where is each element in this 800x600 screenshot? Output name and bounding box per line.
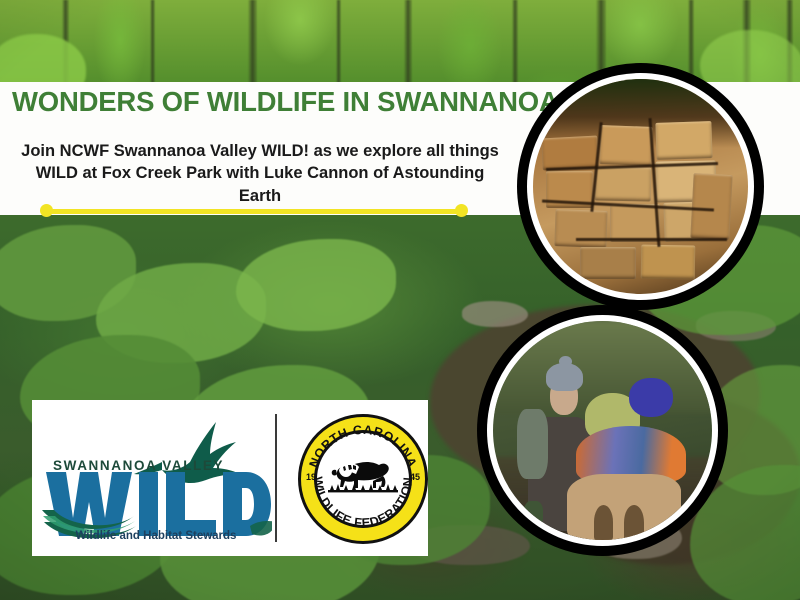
hikers-on-trail bbox=[493, 321, 712, 540]
seal-year-left: 19 bbox=[306, 472, 316, 482]
logo-ncwf-seal: NORTH CAROLINA WILDLIFE FEDERATION 19 45 bbox=[298, 414, 428, 544]
bison-icon bbox=[328, 454, 398, 502]
logo-divider bbox=[275, 414, 277, 542]
event-subtitle: Join NCWF Swannanoa Valley WILD! as we e… bbox=[14, 140, 506, 207]
wild-tagline: Wildlife and Habitat Stewards bbox=[40, 530, 272, 542]
divider-bar bbox=[46, 209, 462, 214]
logo-card: SWANNANOA VALLEY Wildlife and Habitat St… bbox=[32, 400, 428, 556]
photo-ring-white bbox=[487, 315, 718, 546]
page-title: WONDERS OF WILDLIFE IN SWANNANOA bbox=[12, 86, 532, 118]
wild-org-line: SWANNANOA VALLEY bbox=[53, 458, 224, 473]
photo-circle-cracked-wood bbox=[517, 63, 764, 310]
cracked-decaying-wood bbox=[533, 79, 748, 294]
logo-swannanoa-valley-wild: SWANNANOA VALLEY Wildlife and Habitat St… bbox=[40, 410, 272, 546]
flyer-canvas: WONDERS OF WILDLIFE IN SWANNANOA Join NC… bbox=[0, 0, 800, 600]
photo-ring-white bbox=[527, 73, 754, 300]
photo-circle-hikers bbox=[477, 305, 728, 556]
seal-year-right: 45 bbox=[410, 472, 420, 482]
wild-logo-graphic bbox=[40, 410, 272, 546]
